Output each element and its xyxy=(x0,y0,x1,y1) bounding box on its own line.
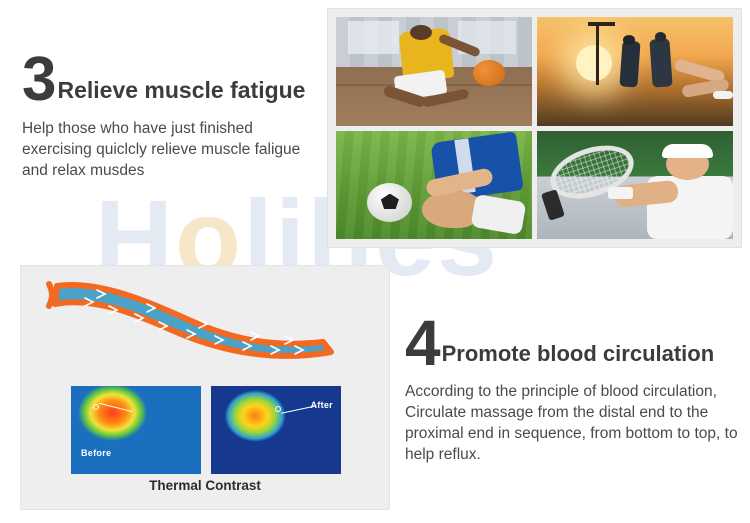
section-4-title: Promote blood circulation xyxy=(439,315,715,367)
tennis-cap xyxy=(662,144,713,158)
lamp-arm xyxy=(588,22,615,26)
runner-two-body xyxy=(649,38,672,87)
blood-flow-diagram xyxy=(39,276,339,371)
photo-runners-sunset xyxy=(537,17,733,126)
flow-cap-left xyxy=(49,284,52,306)
section-3-heading: 3 Relieve muscle fatigue xyxy=(22,52,322,108)
section-4-heading: 4 Promote blood circulation xyxy=(405,315,740,371)
lamp-post xyxy=(596,22,599,85)
page-root: Holihes 3 Relieve muscle fatigue Help th… xyxy=(0,0,750,523)
thermal-label-after: After xyxy=(310,400,333,410)
basketball-icon xyxy=(473,60,504,86)
section-3-number: 3 xyxy=(22,52,54,108)
section-3-text-block: 3 Relieve muscle fatigue Help those who … xyxy=(22,52,322,181)
runner-one-body xyxy=(620,40,641,87)
thermal-image-after: After xyxy=(211,386,341,474)
thermal-image-before: Before xyxy=(71,386,201,474)
photo-basketball-player xyxy=(336,17,532,126)
thermal-caption: Thermal Contrast xyxy=(21,478,389,493)
sun-icon xyxy=(576,45,612,81)
thermal-comparison-row: Before After xyxy=(71,386,341,474)
wristband xyxy=(608,187,633,199)
photo-grid xyxy=(336,17,733,239)
thermal-heatmap-before xyxy=(71,386,201,474)
section-4-number: 4 xyxy=(405,315,439,371)
leg-flow-svg xyxy=(39,276,339,371)
photo-soccer-knee xyxy=(336,131,532,240)
circulation-illustration-panel: Before After Thermal Contrast xyxy=(20,265,390,510)
thermal-marker-before xyxy=(93,404,99,410)
thermal-marker-after xyxy=(275,406,281,412)
flow-channel-shape xyxy=(55,285,331,356)
sports-photo-panel xyxy=(327,8,742,248)
player-head xyxy=(410,25,432,40)
photo-tennis-player xyxy=(537,131,733,240)
section-4-text-block: 4 Promote blood circulation According to… xyxy=(405,315,740,465)
soccer-ball-icon xyxy=(367,183,412,222)
runner-two-head xyxy=(655,32,667,42)
gym-window-left xyxy=(348,21,399,54)
section-4-body: According to the principle of blood circ… xyxy=(405,381,740,465)
running-shoe xyxy=(713,91,733,100)
section-3-body: Help those who have just finished exerci… xyxy=(22,118,322,181)
section-3-title: Relieve muscle fatigue xyxy=(54,52,305,103)
thermal-label-before: Before xyxy=(81,448,111,458)
